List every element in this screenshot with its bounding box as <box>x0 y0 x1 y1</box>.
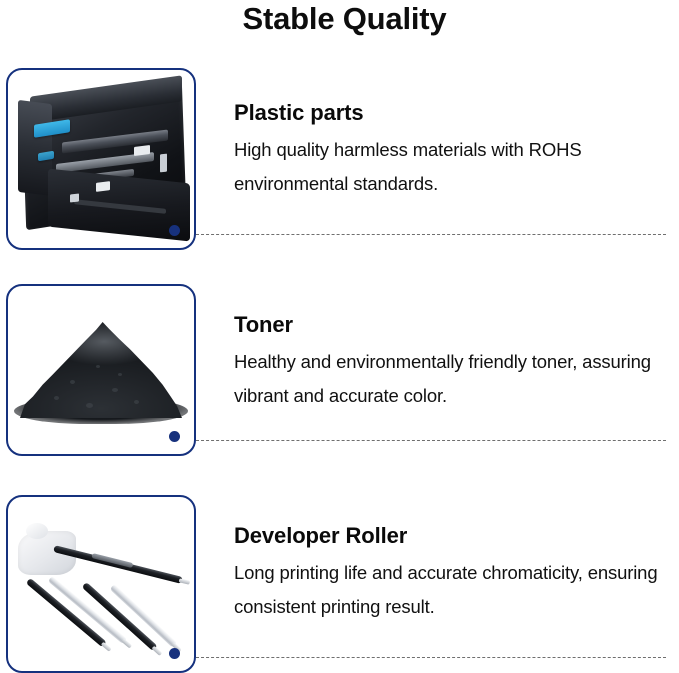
page-title: Stable Quality <box>0 0 679 38</box>
toner-powder-icon <box>8 286 194 454</box>
feature-text-block: Toner Healthy and environmentally friend… <box>234 312 673 413</box>
dashed-connector-line <box>196 440 666 441</box>
feature-row: Plastic parts High quality harmless mate… <box>0 68 679 250</box>
feature-row: Developer Roller Long printing life and … <box>0 495 679 673</box>
connector-dot <box>169 648 180 659</box>
connector-dot <box>169 431 180 442</box>
feature-description: High quality harmless materials with ROH… <box>234 133 673 201</box>
feature-heading: Plastic parts <box>234 100 673 126</box>
dashed-connector-line <box>196 234 666 235</box>
feature-image-card-developer-roller <box>6 495 196 673</box>
dashed-connector-line <box>196 657 666 658</box>
feature-heading: Developer Roller <box>234 523 673 549</box>
feature-text-block: Developer Roller Long printing life and … <box>234 523 673 624</box>
feature-image-card-plastic-parts <box>6 68 196 250</box>
developer-roller-icon <box>8 497 194 671</box>
feature-image-card-toner <box>6 284 196 456</box>
connector-dot <box>169 225 180 236</box>
feature-description: Long printing life and accurate chromati… <box>234 556 673 624</box>
drum-unit-icon <box>8 70 194 248</box>
feature-heading: Toner <box>234 312 673 338</box>
feature-description: Healthy and environmentally friendly ton… <box>234 345 673 413</box>
feature-text-block: Plastic parts High quality harmless mate… <box>234 100 673 201</box>
feature-row: Toner Healthy and environmentally friend… <box>0 284 679 456</box>
